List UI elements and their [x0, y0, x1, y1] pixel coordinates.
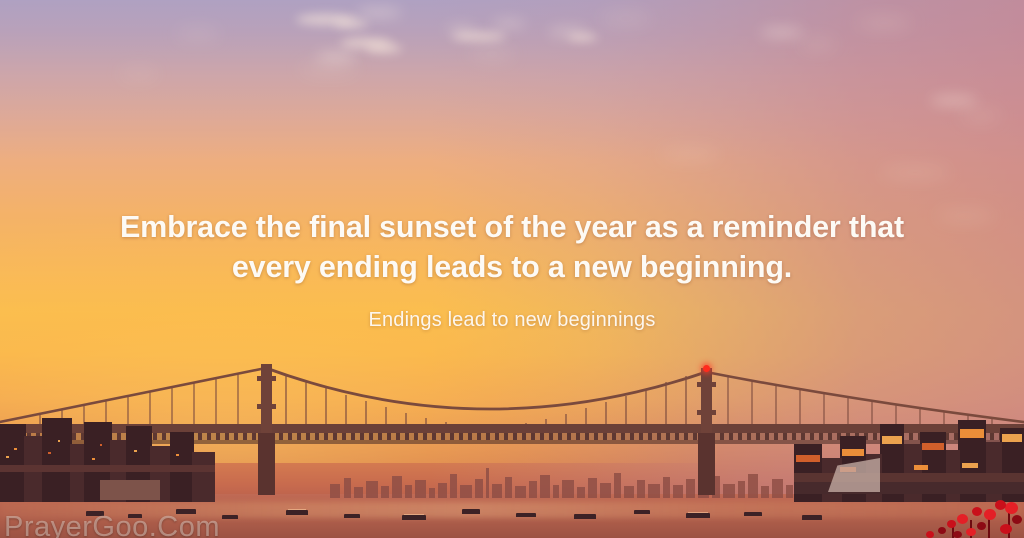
right-waterfront-buildings: [794, 406, 1024, 502]
bridge-pier-right: [698, 433, 715, 495]
quote-image-canvas: Embrace the final sunset of the year as …: [0, 0, 1024, 538]
left-terminal-building: [100, 480, 160, 500]
bridge-tower-left: [261, 364, 272, 440]
foreground-red-flowers: [904, 492, 1024, 538]
tower-beacon-light: [703, 365, 710, 372]
site-watermark: PrayerGoo.Com: [4, 511, 220, 538]
bridge-tower-right: [701, 368, 712, 440]
bridge-pier-left: [258, 433, 275, 495]
